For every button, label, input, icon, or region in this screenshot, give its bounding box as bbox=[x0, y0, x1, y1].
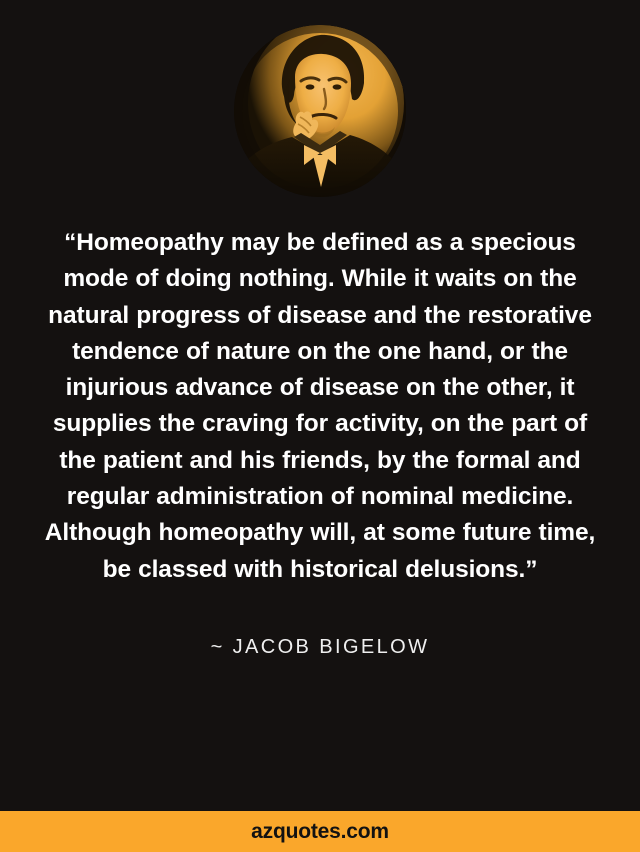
portrait-container bbox=[234, 25, 406, 197]
quote-author: ~ JACOB BIGELOW bbox=[211, 636, 430, 659]
quote-card: “Homeopathy may be defined as a specious… bbox=[0, 0, 640, 852]
quote-text: “Homeopathy may be defined as a specious… bbox=[40, 225, 600, 588]
site-watermark: azquotes.com bbox=[251, 820, 389, 844]
portrait-photo-jacob-bigelow bbox=[234, 25, 406, 197]
footer-bar: azquotes.com bbox=[0, 811, 640, 852]
